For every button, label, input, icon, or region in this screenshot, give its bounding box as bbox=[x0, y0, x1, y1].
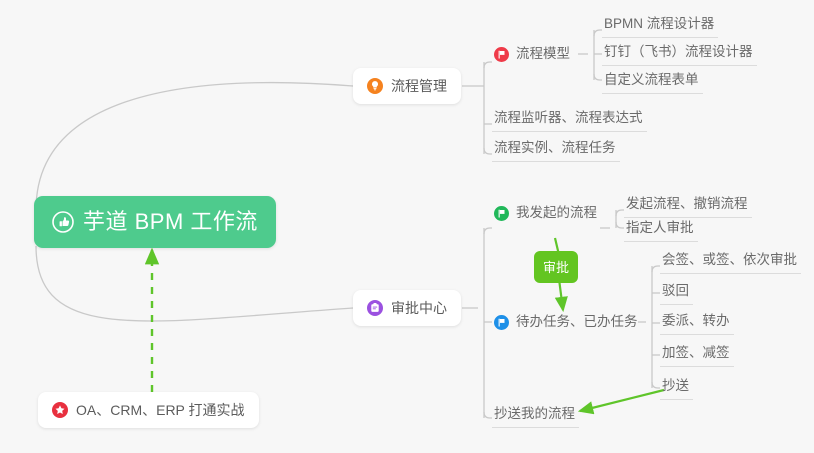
leaf-label-counter-or-sequential-sign: 会签、或签、依次审批 bbox=[662, 253, 797, 267]
leaf-dingtalk-feishu-designer[interactable]: 钉钉（飞书）流程设计器 bbox=[602, 38, 757, 66]
leaf-reject[interactable]: 驳回 bbox=[660, 277, 693, 305]
leaf-label-delegate-transfer: 委派、转办 bbox=[662, 314, 730, 328]
leaf-label-process-listener-expression: 流程监听器、流程表达式 bbox=[494, 111, 643, 125]
annotation-tag-approval[interactable]: 审批 bbox=[534, 251, 578, 283]
branch-label-process-management: 流程管理 bbox=[391, 79, 447, 93]
leaf-label-reject: 驳回 bbox=[662, 284, 689, 298]
leaf-label-start-cancel-process: 发起流程、撤销流程 bbox=[626, 197, 748, 211]
connector-root-to-approval-center bbox=[36, 246, 353, 321]
annotation-tag-label: 审批 bbox=[543, 261, 569, 274]
leaf-assignee-approval[interactable]: 指定人审批 bbox=[624, 214, 698, 242]
leaf-label-dingtalk-feishu-designer: 钉钉（飞书）流程设计器 bbox=[604, 45, 753, 59]
flag-icon bbox=[494, 47, 509, 62]
leaf-label-assignee-approval: 指定人审批 bbox=[626, 221, 694, 235]
footnote-label: OA、CRM、ERP 打通实战 bbox=[76, 403, 245, 417]
leaf-counter-or-sequential-sign[interactable]: 会签、或签、依次审批 bbox=[660, 246, 801, 274]
branch-label-approval-center: 审批中心 bbox=[391, 301, 447, 315]
leaf-label-bpmn-designer: BPMN 流程设计器 bbox=[604, 17, 714, 31]
leaf-process-listener-expression[interactable]: 流程监听器、流程表达式 bbox=[492, 104, 647, 132]
leaf-label-add-remove-sign: 加签、减签 bbox=[662, 346, 730, 360]
mindmap-canvas: 芋道 BPM 工作流 OA、CRM、ERP 打通实战 流程管理 bbox=[0, 0, 814, 453]
star-icon bbox=[52, 402, 68, 418]
leaf-label-cc: 抄送 bbox=[662, 379, 689, 393]
subnode-label-process-model: 流程模型 bbox=[516, 47, 570, 61]
subnode-label-my-initiated-process: 我发起的流程 bbox=[516, 206, 597, 220]
connector-model-branch-bpmn bbox=[594, 30, 602, 36]
subnode-todo-done-task[interactable]: 待办任务、已办任务 bbox=[492, 308, 642, 336]
connector-ac-branch-mine bbox=[484, 228, 492, 234]
connector-todo-branch-cc bbox=[652, 382, 660, 388]
connector-pm-branch-model bbox=[484, 62, 492, 68]
connector-ac-branch-ccme bbox=[484, 412, 492, 418]
connector-mine-branch-assignee bbox=[616, 222, 624, 228]
leaf-label-custom-process-form: 自定义流程表单 bbox=[604, 73, 699, 87]
leaf-bpmn-designer[interactable]: BPMN 流程设计器 bbox=[602, 10, 718, 38]
branch-node-process-management[interactable]: 流程管理 bbox=[353, 68, 461, 104]
subnode-label-todo-done-task: 待办任务、已办任务 bbox=[516, 315, 638, 329]
leaf-custom-process-form[interactable]: 自定义流程表单 bbox=[602, 66, 703, 94]
connector-pm-branch-instance bbox=[484, 148, 492, 154]
leaf-label-process-instance-task: 流程实例、流程任务 bbox=[494, 141, 616, 155]
connector-mine-branch-start bbox=[616, 210, 624, 216]
root-node[interactable]: 芋道 BPM 工作流 bbox=[34, 196, 276, 248]
leaf-cc[interactable]: 抄送 bbox=[660, 372, 693, 400]
connector-root-to-process-management bbox=[36, 83, 353, 210]
leaf-add-remove-sign[interactable]: 加签、减签 bbox=[660, 339, 734, 367]
lightbulb-icon bbox=[367, 78, 383, 94]
flag-icon bbox=[494, 206, 509, 221]
leaf-cc-to-me-process[interactable]: 抄送我的流程 bbox=[492, 400, 579, 428]
thumbs-up-icon bbox=[52, 211, 74, 233]
leaf-label-cc-to-me-process: 抄送我的流程 bbox=[494, 407, 575, 421]
connector-todo-branch-sign bbox=[652, 266, 660, 272]
footnote-node[interactable]: OA、CRM、ERP 打通实战 bbox=[38, 392, 259, 428]
subnode-my-initiated-process[interactable]: 我发起的流程 bbox=[492, 199, 601, 227]
connector-model-branch-custom bbox=[594, 74, 602, 80]
arrow-cc-to-ccme bbox=[580, 390, 664, 411]
leaf-delegate-transfer[interactable]: 委派、转办 bbox=[660, 307, 734, 335]
flag-icon bbox=[494, 315, 509, 330]
branch-node-approval-center[interactable]: 审批中心 bbox=[353, 290, 461, 326]
leaf-process-instance-task[interactable]: 流程实例、流程任务 bbox=[492, 134, 620, 162]
root-label: 芋道 BPM 工作流 bbox=[83, 211, 258, 233]
clipboard-icon bbox=[367, 300, 383, 316]
subnode-process-model[interactable]: 流程模型 bbox=[492, 40, 574, 68]
